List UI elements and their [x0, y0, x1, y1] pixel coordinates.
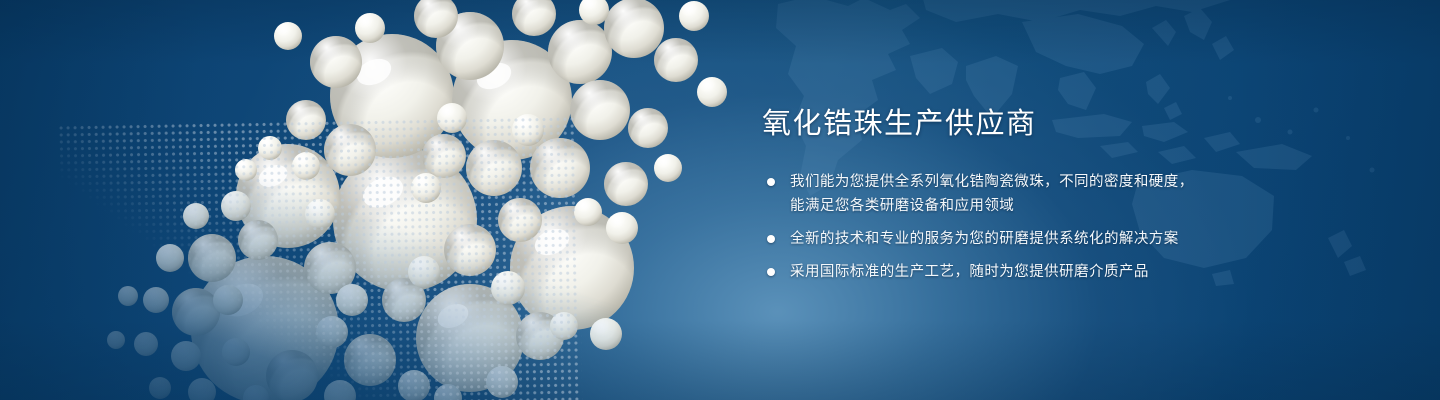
- list-item: 我们能为您提供全系列氧化锆陶瓷微珠，不同的密度和硬度， 能满足您各类研磨设备和应…: [762, 170, 1282, 218]
- list-item: 采用国际标准的生产工艺，随时为您提供研磨介质产品: [762, 260, 1282, 284]
- hero-banner: 氧化锆珠生产供应商 我们能为您提供全系列氧化锆陶瓷微珠，不同的密度和硬度， 能满…: [0, 0, 1440, 400]
- bullet-dot-icon: [767, 268, 775, 276]
- page-title: 氧化锆珠生产供应商: [762, 104, 1282, 144]
- feature-text-line1: 采用国际标准的生产工艺，随时为您提供研磨介质产品: [790, 264, 1149, 280]
- feature-list: 我们能为您提供全系列氧化锆陶瓷微珠，不同的密度和硬度， 能满足您各类研磨设备和应…: [762, 170, 1282, 284]
- list-item: 全新的技术和专业的服务为您的研磨提供系统化的解决方案: [762, 227, 1282, 251]
- feature-text-line1: 我们能为您提供全系列氧化锆陶瓷微珠，不同的密度和硬度，: [790, 174, 1194, 190]
- feature-text-line2: 能满足您各类研磨设备和应用领域: [790, 194, 1282, 218]
- feature-text-line1: 全新的技术和专业的服务为您的研磨提供系统化的解决方案: [790, 231, 1179, 247]
- bullet-dot-icon: [767, 178, 775, 186]
- banner-copy: 氧化锆珠生产供应商 我们能为您提供全系列氧化锆陶瓷微珠，不同的密度和硬度， 能满…: [762, 104, 1282, 284]
- bullet-dot-icon: [767, 235, 775, 243]
